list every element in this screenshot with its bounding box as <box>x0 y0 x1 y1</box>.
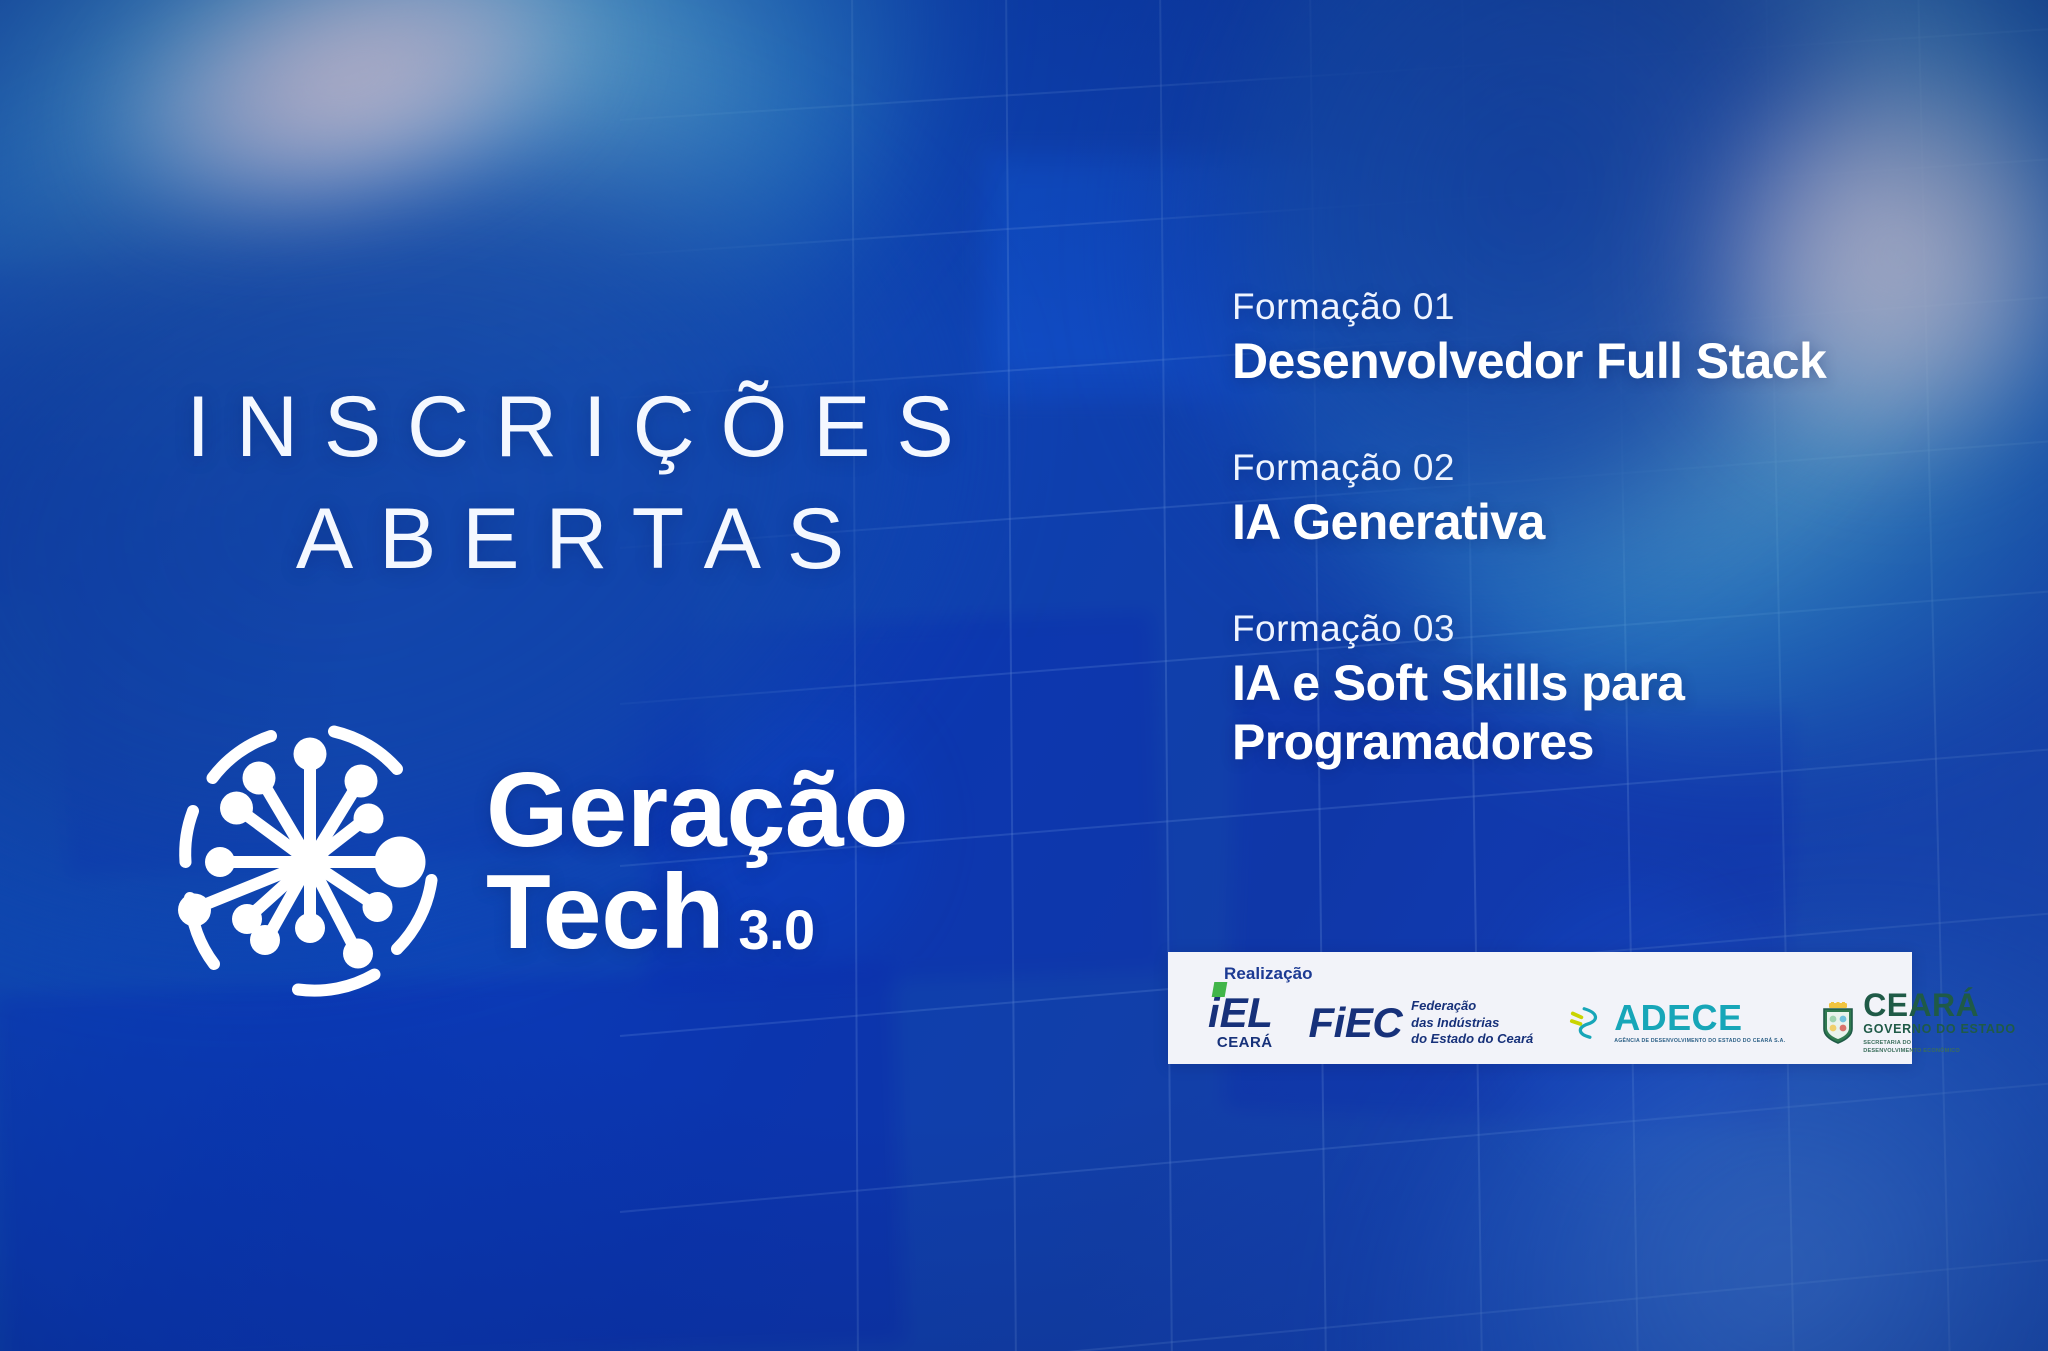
course-eyebrow: Formação 03 <box>1232 608 2022 650</box>
ceara-government-label: GOVERNO DO ESTADO <box>1863 1023 2015 1037</box>
iel-main: i EL <box>1208 996 1273 1030</box>
ceara-wordmark: CEARÁ <box>1863 991 1979 1020</box>
wordmark-line-2: Tech <box>486 862 724 964</box>
course-item-1: Formação 01 Desenvolvedor Full Stack <box>1232 286 2022 391</box>
promo-banner: INSCRIÇÕES ABERTAS <box>0 0 2048 1351</box>
headline-line-1: INSCRIÇÕES <box>0 372 1140 484</box>
course-title: Desenvolvedor Full Stack <box>1232 332 2022 391</box>
wordmark-line-2-row: Tech 3.0 <box>486 862 908 964</box>
course-eyebrow: Formação 02 <box>1232 447 2022 489</box>
iel-letters-el: EL <box>1220 996 1273 1030</box>
iel-ceara-logo: i EL CEARÁ <box>1208 996 1273 1049</box>
geracao-tech-wordmark: Geração Tech 3.0 <box>486 760 908 964</box>
ceara-governo-logo: CEARÁ GOVERNO DO ESTADO SECRETARIA DO DE… <box>1821 991 2015 1055</box>
headline: INSCRIÇÕES ABERTAS <box>0 372 1140 596</box>
ceara-coat-of-arms-icon <box>1821 1002 1855 1044</box>
geracao-tech-logo: Geração Tech 3.0 <box>160 712 908 1012</box>
ceara-text-block: CEARÁ GOVERNO DO ESTADO SECRETARIA DO DE… <box>1863 991 2015 1055</box>
course-title: IA e Soft Skills para Programadores <box>1232 654 2022 772</box>
iel-letter-i: i <box>1208 996 1220 1030</box>
course-item-3: Formação 03 IA e Soft Skills para Progra… <box>1232 608 2022 772</box>
fiec-description: Federação das Indústrias do Estado do Ce… <box>1411 998 1533 1047</box>
version-label: 3.0 <box>738 902 814 964</box>
adece-sublabel: AGÊNCIA DE DESENVOLVIMENTO DO ESTADO DO … <box>1614 1038 1785 1044</box>
ceara-secretariat-label: SECRETARIA DO DESENVOLVIMENTO ECONÔMICO <box>1863 1040 1960 1055</box>
sponsor-logo-row: i EL CEARÁ FiEC Federação das Indústrias… <box>1208 990 1888 1056</box>
left-column: INSCRIÇÕES ABERTAS <box>0 0 1140 1351</box>
fiec-wordmark: FiEC <box>1309 1005 1403 1041</box>
adece-logo: ADECE AGÊNCIA DE DESENVOLVIMENTO DO ESTA… <box>1569 1002 1785 1045</box>
headline-line-2: ABERTAS <box>0 484 1140 596</box>
course-eyebrow: Formação 01 <box>1232 286 2022 328</box>
course-item-2: Formação 02 IA Generativa <box>1232 447 2022 552</box>
network-mark-icon <box>160 712 460 1012</box>
course-list: Formação 01 Desenvolvedor Full Stack For… <box>1232 286 2022 772</box>
sponsors-label: Realização <box>1224 964 1313 984</box>
wordmark-line-1: Geração <box>486 760 908 862</box>
course-title: IA Generativa <box>1232 493 2022 552</box>
adece-swoosh-icon <box>1569 1003 1607 1043</box>
adece-wordmark: ADECE <box>1614 1002 1742 1034</box>
adece-text-block: ADECE AGÊNCIA DE DESENVOLVIMENTO DO ESTA… <box>1614 1002 1785 1045</box>
sponsors-panel: Realização i EL CEARÁ FiEC Federação das… <box>1168 952 1912 1064</box>
fiec-logo: FiEC Federação das Indústrias do Estado … <box>1309 998 1534 1047</box>
banner-content: INSCRIÇÕES ABERTAS <box>0 0 2048 1351</box>
iel-sublabel: CEARÁ <box>1217 1035 1273 1050</box>
iel-green-dot-icon <box>1212 982 1228 997</box>
